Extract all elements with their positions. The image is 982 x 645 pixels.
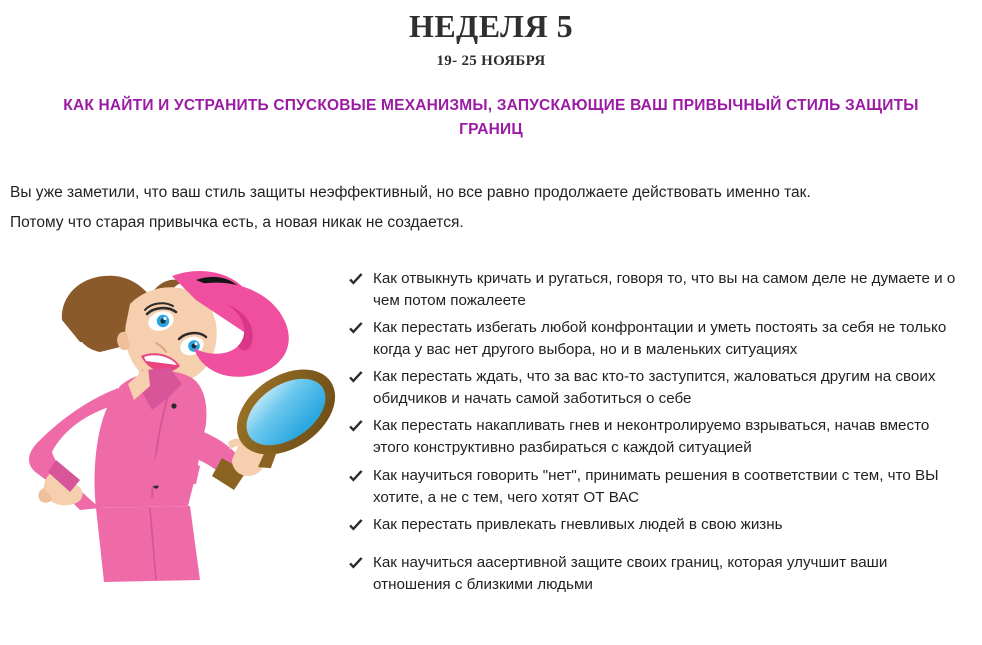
benefits-list: Как отвыкнуть кричать и ругаться, говоря… bbox=[345, 268, 982, 595]
content-row: Как отвыкнуть кричать и ругаться, говоря… bbox=[0, 260, 982, 620]
list-item: Как перестать накапливать гнев и неконтр… bbox=[345, 415, 963, 459]
list-item-text: Как перестать ждать, что за вас кто-то з… bbox=[373, 368, 935, 407]
list-item-text: Как перестать накапливать гнев и неконтр… bbox=[373, 417, 929, 456]
skirt-shape bbox=[96, 506, 200, 582]
list-item-text: Как перестать привлекать гневливых людей… bbox=[373, 516, 783, 533]
check-icon bbox=[347, 517, 365, 535]
intro-line-2: Потому что старая привычка есть, а новая… bbox=[10, 208, 970, 238]
check-icon bbox=[347, 468, 365, 486]
list-item: Как научиться говорить "нет", принимать … bbox=[345, 465, 963, 509]
check-icon bbox=[347, 369, 365, 387]
list-item: Как перестать ждать, что за вас кто-то з… bbox=[345, 366, 963, 410]
list-item: Как отвыкнуть кричать и ругаться, говоря… bbox=[345, 268, 963, 312]
check-icon bbox=[347, 271, 365, 289]
page-title: НЕДЕЛЯ 5 bbox=[0, 8, 982, 45]
intro-paragraph: Вы уже заметили, что ваш стиль защиты не… bbox=[10, 178, 970, 238]
list-item-text: Как отвыкнуть кричать и ругаться, говоря… bbox=[373, 270, 955, 309]
list-item-text: Как научиться аасертивной защите своих г… bbox=[373, 554, 887, 593]
woman-illustration-svg bbox=[0, 260, 345, 620]
list-item-text: Как перестать избегать любой конфронтаци… bbox=[373, 319, 946, 358]
list-item: Как перестать избегать любой конфронтаци… bbox=[345, 317, 963, 361]
section-heading: КАК НАЙТИ И УСТРАНИТЬ СПУСКОВЫЕ МЕХАНИЗМ… bbox=[38, 94, 944, 142]
date-range: 19- 25 НОЯБРЯ bbox=[0, 53, 982, 70]
check-icon bbox=[347, 320, 365, 338]
list-item-text: Как научиться говорить "нет", принимать … bbox=[373, 467, 939, 506]
list-item: Как научиться аасертивной защите своих г… bbox=[345, 552, 963, 596]
check-icon bbox=[347, 555, 365, 573]
illustration-woman-with-magnifying-glass bbox=[0, 260, 345, 620]
list-item: Как перестать привлекать гневливых людей… bbox=[345, 514, 963, 536]
check-icon bbox=[347, 418, 365, 436]
intro-line-1: Вы уже заметили, что ваш стиль защиты не… bbox=[10, 178, 970, 208]
benefits-list-container: Как отвыкнуть кричать и ругаться, говоря… bbox=[345, 260, 982, 600]
